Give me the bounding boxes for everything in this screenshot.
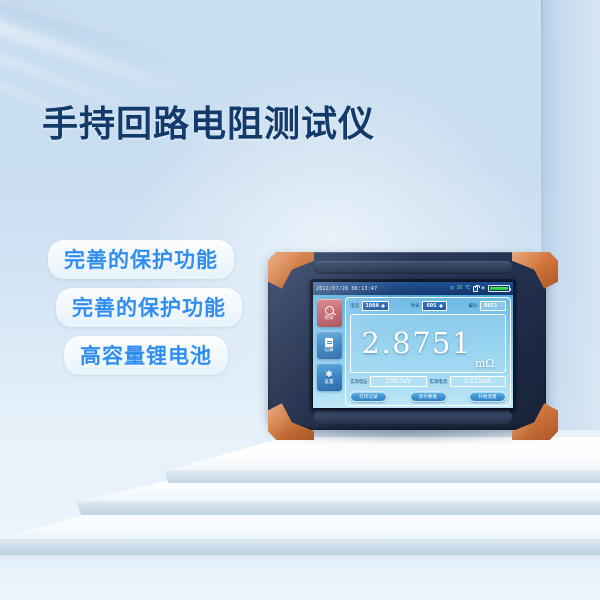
secondary-readout-row: 实测电压: 350.2uV 实测电流: 0.122mA <box>350 376 506 387</box>
measured-current: 实测电流: 0.122mA <box>430 376 507 387</box>
rubber-grip-top <box>314 261 512 274</box>
feature-pill: 完善的保护功能 <box>48 240 234 279</box>
parameter-row: 电流: 100A 时长: <box>350 301 506 311</box>
measured-current-label: 实测电流: <box>430 379 449 385</box>
feature-list: 完善的保护功能 完善的保护功能 高容量锂电池 <box>48 240 242 384</box>
screen-body: 测试 记录 ✱ 设置 <box>313 295 513 408</box>
corner-bumper-top-right <box>512 252 558 292</box>
print-record-button[interactable]: 打印记录 <box>350 391 387 402</box>
temperature-icon: 26 <box>457 286 463 291</box>
sidebar-item-label: 设置 <box>324 380 334 385</box>
device-screen[interactable]: 2022/07/28 06:13:47 ◎ 26 ℃ ✶ <box>313 282 513 408</box>
parameter-label: 编号: <box>468 303 478 309</box>
lock-icon <box>473 286 478 292</box>
record-icon <box>325 338 333 347</box>
current-select[interactable]: 100A <box>362 301 389 311</box>
screen-bezel: 2022/07/28 06:13:47 ◎ 26 ℃ ✶ <box>310 279 516 411</box>
screen-sidebar: 测试 记录 ✱ 设置 <box>315 297 343 406</box>
handheld-loop-resistance-tester: 2022/07/28 06:13:47 ◎ 26 ℃ ✶ <box>262 248 552 438</box>
slab-front-face <box>76 501 600 515</box>
parameter-label: 时长: <box>411 303 421 309</box>
sidebar-item-test[interactable]: 测试 <box>317 299 342 327</box>
measured-current-value: 0.122mA <box>450 376 506 387</box>
parameter-current: 电流: 100A <box>350 301 389 311</box>
page-title: 手持回路电阻测试仪 <box>42 95 375 147</box>
bluetooth-icon: ✶ <box>480 286 485 292</box>
status-icon-group: ◎ 26 ℃ ✶ <box>450 285 510 292</box>
resistance-value: 2.8751 <box>361 329 471 358</box>
product-scene: 手持回路电阻测试仪 完善的保护功能 完善的保护功能 高容量锂电池 2022/07… <box>0 0 600 600</box>
corner-bumper-bottom-right <box>512 400 558 440</box>
current-value: 100A <box>366 303 379 309</box>
measured-voltage-value: 350.2uV <box>370 376 426 387</box>
measure-icon <box>325 306 334 315</box>
device-body: 2022/07/28 06:13:47 ◎ 26 ℃ ✶ <box>268 252 546 430</box>
save-data-button[interactable]: 保存数据 <box>410 391 447 402</box>
sidebar-item-label: 测试 <box>324 316 334 321</box>
corner-bumper-bottom-left <box>268 400 314 440</box>
start-measure-button[interactable]: 开始测量 <box>469 391 506 402</box>
feature-pill: 高容量锂电池 <box>64 336 228 375</box>
wifi-icon: ◎ <box>450 286 454 291</box>
serial-number-field[interactable]: 0021 <box>480 301 506 311</box>
parameter-duration: 时长: 60S <box>411 301 447 311</box>
sidebar-item-settings[interactable]: ✱ 设置 <box>317 363 342 391</box>
parameter-serial: 编号: 0021 <box>468 301 506 311</box>
status-bar: 2022/07/28 06:13:47 ◎ 26 ℃ ✶ <box>313 282 513 295</box>
degree-celsius-icon: ℃ <box>465 286 471 291</box>
duration-select[interactable]: 60S <box>422 301 446 311</box>
slab-front-face <box>164 470 600 483</box>
parameter-label: 电流: <box>350 303 360 309</box>
action-button-row: 打印记录 保存数据 开始测量 <box>350 391 506 402</box>
slab-front-face <box>0 539 600 555</box>
measured-voltage-label: 实测电压: <box>350 379 369 385</box>
battery-icon <box>488 285 510 292</box>
settings-icon: ✱ <box>325 370 333 379</box>
serial-value: 0021 <box>484 303 497 309</box>
measured-voltage: 实测电压: 350.2uV <box>350 376 427 387</box>
spinner-icon[interactable] <box>381 304 385 309</box>
corner-bumper-top-left <box>268 252 314 292</box>
feature-pill: 完善的保护功能 <box>56 288 242 327</box>
rubber-grip-bottom <box>314 410 512 425</box>
duration-value: 60S <box>426 303 436 309</box>
resistance-unit: mΩ <box>475 358 495 372</box>
floor <box>0 552 600 600</box>
status-datetime: 2022/07/28 06:13:47 <box>316 286 377 292</box>
measurement-panel: 电流: 100A 时长: <box>345 297 511 406</box>
main-reading-display: 2.8751 mΩ <box>350 314 506 373</box>
sidebar-item-record[interactable]: 记录 <box>317 331 342 359</box>
spinner-icon[interactable] <box>439 304 443 309</box>
sidebar-item-label: 记录 <box>324 348 334 353</box>
